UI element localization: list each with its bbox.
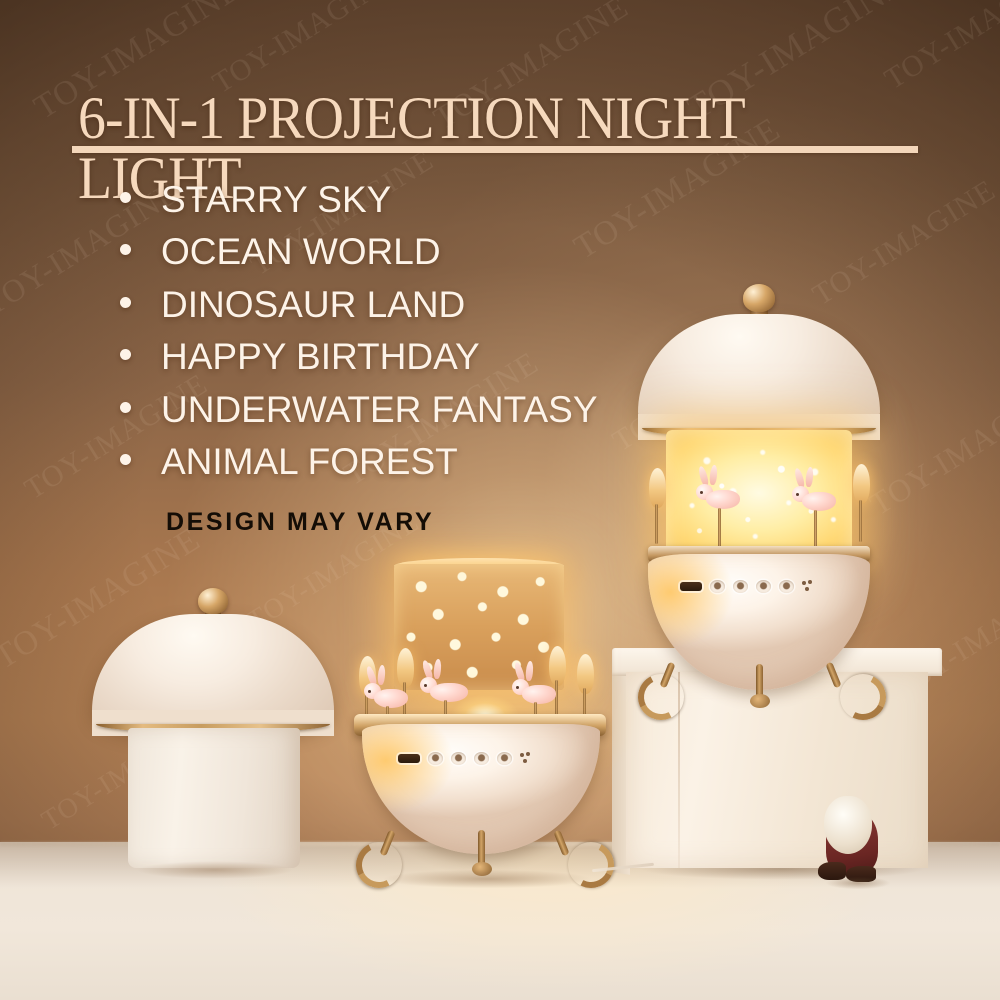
design-disclaimer: DESIGN MAY VARY xyxy=(166,508,434,537)
santa-shadow xyxy=(812,874,904,892)
open-rabbit-3-body xyxy=(522,685,556,704)
hero-tree-right-top xyxy=(853,464,870,504)
open-lamp-shadow xyxy=(342,866,632,892)
feature-item-label: UNDERWATER FANTASY xyxy=(161,388,598,432)
open-control-panel[interactable] xyxy=(398,752,533,765)
usb-port-icon[interactable] xyxy=(680,582,702,591)
usb-port-icon[interactable] xyxy=(398,754,420,763)
open-rabbit-3-ear-b xyxy=(525,661,534,682)
hero-rabbit-right-ear-b xyxy=(805,467,814,488)
product-lamp-open xyxy=(340,548,626,878)
rotate-button[interactable] xyxy=(756,580,771,593)
bullet-dot-icon xyxy=(120,349,131,360)
hero-tree-right-rod xyxy=(859,500,862,542)
open-leg-right-stem xyxy=(553,830,569,857)
feature-item-label: DINOSAUR LAND xyxy=(161,283,465,327)
hero-tree-left-rod xyxy=(655,504,658,544)
power-button[interactable] xyxy=(710,580,725,593)
feature-item-label: OCEAN WORLD xyxy=(161,230,441,274)
product-image: TOY-IMAGINETOY-IMAGINETOY-IMAGINETOY-IMA… xyxy=(0,0,1000,1000)
hero-rabbit-right-rod xyxy=(814,510,817,550)
open-rabbit-2-ear-b xyxy=(433,659,442,680)
hero-leg-right-stem xyxy=(825,662,841,689)
feature-item-label: ANIMAL FOREST xyxy=(161,440,458,484)
unlit-lamp-shadow xyxy=(110,858,320,882)
hero-rabbit-left-body xyxy=(706,490,740,509)
open-rabbit-1-body xyxy=(374,689,408,708)
hero-finial-knob xyxy=(743,284,775,312)
unlit-finial-knob xyxy=(198,588,228,614)
feature-item-label: HAPPY BIRTHDAY xyxy=(161,335,480,379)
indicator-dots-icon xyxy=(802,580,815,593)
santa-figurine xyxy=(812,790,902,894)
feature-list: STARRY SKYOCEAN WORLDDINOSAUR LANDHAPPY … xyxy=(120,178,720,492)
bullet-dot-icon xyxy=(120,402,131,413)
feature-item-4: HAPPY BIRTHDAY xyxy=(120,335,720,379)
bullet-dot-icon xyxy=(120,297,131,308)
santa-beard-and-face xyxy=(824,796,872,854)
hero-rabbit-right-eye xyxy=(796,493,799,496)
power-button[interactable] xyxy=(428,752,443,765)
open-rabbit-1-ear-b xyxy=(377,665,386,686)
mode-button[interactable] xyxy=(451,752,466,765)
feature-item-1: STARRY SKY xyxy=(120,178,720,222)
mode-button[interactable] xyxy=(733,580,748,593)
rotate-button[interactable] xyxy=(474,752,489,765)
feature-item-2: OCEAN WORLD xyxy=(120,230,720,274)
hero-rabbit-right-body xyxy=(802,492,836,511)
open-rabbit-3-eye xyxy=(516,686,519,689)
feature-item-6: ANIMAL FOREST xyxy=(120,440,720,484)
timer-button[interactable] xyxy=(497,752,512,765)
timer-button[interactable] xyxy=(779,580,794,593)
open-rabbit-2-eye xyxy=(424,684,427,687)
feature-item-3: DINOSAUR LAND xyxy=(120,283,720,327)
hero-leg-center-foot xyxy=(750,694,770,708)
feature-item-5: UNDERWATER FANTASY xyxy=(120,388,720,432)
bullet-dot-icon xyxy=(120,454,131,465)
hero-rabbit-right xyxy=(790,468,844,550)
hero-rabbit-left-rod xyxy=(718,508,721,550)
hero-control-panel[interactable] xyxy=(680,580,815,593)
feature-item-label: STARRY SKY xyxy=(161,178,391,222)
bullet-dot-icon xyxy=(120,192,131,203)
unlit-dome xyxy=(92,614,334,736)
hero-legs xyxy=(634,664,886,714)
hero-tree-right xyxy=(852,464,872,542)
title-underline xyxy=(72,146,918,153)
indicator-dots-icon xyxy=(520,752,533,765)
bullet-dot-icon xyxy=(120,244,131,255)
unlit-body-cylinder xyxy=(128,728,300,868)
product-lamp-unlit xyxy=(78,586,348,874)
open-rabbit-1-eye xyxy=(368,690,371,693)
